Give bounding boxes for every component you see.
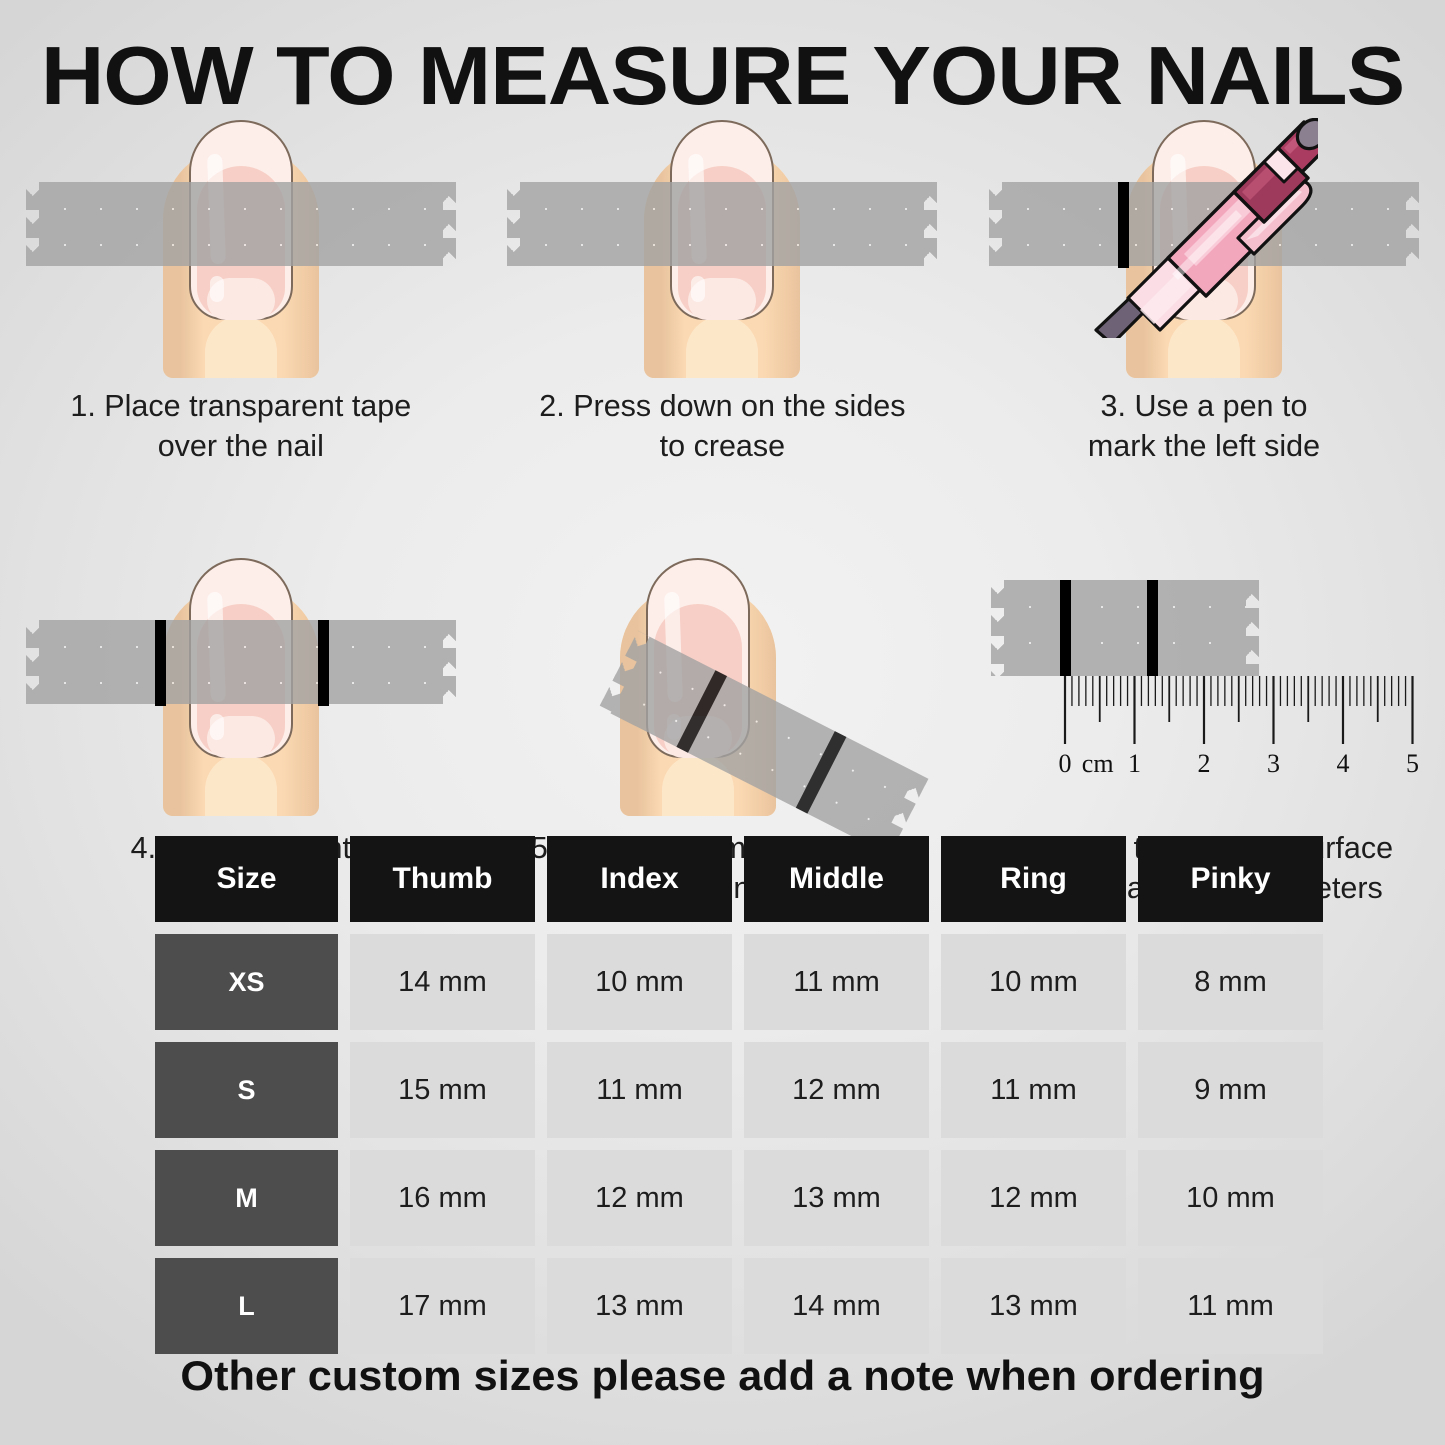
table-size-label: S xyxy=(155,1042,338,1138)
tape-zigzag-left-icon xyxy=(26,182,40,266)
step-2-caption-line-1: 2. Press down on the sides xyxy=(502,386,942,426)
tape-texture xyxy=(520,182,924,266)
step-2-caption-line-2: to crease xyxy=(502,426,942,466)
table-cell: 8 mm xyxy=(1138,934,1323,1030)
table-cell: 10 mm xyxy=(547,934,732,1030)
nail-gloss-small-icon xyxy=(691,276,705,302)
footer-note: Other custom sizes please add a note whe… xyxy=(0,1352,1445,1400)
step-2-caption: 2. Press down on the sides to crease xyxy=(502,386,942,466)
page-title: HOW TO MEASURE YOUR NAILS xyxy=(0,28,1445,124)
ruler-tick-label: 2 xyxy=(1197,749,1210,778)
table-cell: 12 mm xyxy=(547,1150,732,1246)
table-cell: 17 mm xyxy=(350,1258,535,1354)
table-cell: 12 mm xyxy=(744,1042,929,1138)
table-header-index: Index xyxy=(547,836,732,922)
table-cell: 13 mm xyxy=(547,1258,732,1354)
tape-zigzag-right-icon xyxy=(923,182,937,266)
finger-knuckle-highlight xyxy=(205,754,277,816)
ruler-tick-label: 1 xyxy=(1128,749,1141,778)
table-header-ring: Ring xyxy=(941,836,1126,922)
tape-zigzag-left-icon xyxy=(989,182,1003,266)
table-cell: 14 mm xyxy=(744,1258,929,1354)
table-size-label: M xyxy=(155,1150,338,1246)
step-4-illustration xyxy=(21,558,461,820)
tape-zigzag-right-icon xyxy=(442,182,456,266)
step-3-caption: 3. Use a pen to mark the left side xyxy=(984,386,1424,466)
tape-zigzag-left-icon xyxy=(26,620,40,704)
step-2: 2. Press down on the sides to crease xyxy=(482,120,964,466)
step-3-illustration xyxy=(984,120,1424,378)
step-6-illustration: 012345cm xyxy=(984,558,1424,820)
ruler: 012345cm xyxy=(984,558,1424,816)
table-size-label: L xyxy=(155,1258,338,1354)
tape-zigzag-right-icon xyxy=(1405,182,1419,266)
nail-gloss-small-icon xyxy=(210,714,224,740)
pen-icon xyxy=(1088,118,1318,338)
pen-mark-left xyxy=(155,620,166,706)
ruler-tick-label: 3 xyxy=(1267,749,1280,778)
table-row: XS 14 mm 10 mm 11 mm 10 mm 8 mm xyxy=(155,934,1322,1030)
step-1-illustration xyxy=(21,120,461,378)
tape-texture xyxy=(39,620,443,704)
step-2-illustration xyxy=(502,120,942,378)
table-cell: 11 mm xyxy=(547,1042,732,1138)
table-cell: 10 mm xyxy=(941,934,1126,1030)
table-header-pinky: Pinky xyxy=(1138,836,1323,922)
tape-zigzag-left-icon xyxy=(507,182,521,266)
ruler-tick-label: 0 xyxy=(1058,749,1071,778)
nail-gloss-small-icon xyxy=(210,276,224,302)
table-header-size: Size xyxy=(155,836,338,922)
table-header-middle: Middle xyxy=(744,836,929,922)
step-5-illustration xyxy=(502,558,942,820)
tape-strip xyxy=(39,620,443,704)
tape-strip xyxy=(520,182,924,266)
step-1: 1. Place transparent tape over the nail xyxy=(0,120,482,466)
table-cell: 12 mm xyxy=(941,1150,1126,1246)
ruler-tick-label: 4 xyxy=(1336,749,1349,778)
ruler-unit-label: cm xyxy=(1082,749,1114,778)
table-cell: 13 mm xyxy=(744,1150,929,1246)
table-cell: 13 mm xyxy=(941,1258,1126,1354)
step-1-caption-line-2: over the nail xyxy=(21,426,461,466)
table-row: L 17 mm 13 mm 14 mm 13 mm 11 mm xyxy=(155,1258,1322,1354)
tape-texture xyxy=(39,182,443,266)
table-cell: 9 mm xyxy=(1138,1042,1323,1138)
step-1-caption-line-1: 1. Place transparent tape xyxy=(21,386,461,426)
tape-strip xyxy=(39,182,443,266)
step-1-caption: 1. Place transparent tape over the nail xyxy=(21,386,461,466)
ruler-tick-label: 5 xyxy=(1406,749,1419,778)
table-row: M 16 mm 12 mm 13 mm 12 mm 10 mm xyxy=(155,1150,1322,1246)
table-header-thumb: Thumb xyxy=(350,836,535,922)
table-cell: 11 mm xyxy=(1138,1258,1323,1354)
table-row: S 15 mm 11 mm 12 mm 11 mm 9 mm xyxy=(155,1042,1322,1138)
size-table: Size Thumb Index Middle Ring Pinky XS 14… xyxy=(155,836,1322,1366)
finger-knuckle-highlight xyxy=(686,316,758,378)
table-cell: 14 mm xyxy=(350,934,535,1030)
ruler-labels: 012345cm xyxy=(1058,749,1419,778)
ruler-ticks xyxy=(1065,676,1413,744)
table-cell: 10 mm xyxy=(1138,1150,1323,1246)
table-cell: 16 mm xyxy=(350,1150,535,1246)
tape-zigzag-right-icon xyxy=(442,620,456,704)
pen-mark-right xyxy=(318,620,329,706)
table-size-label: XS xyxy=(155,934,338,1030)
step-3-caption-line-2: mark the left side xyxy=(984,426,1424,466)
steps-grid: 1. Place transparent tape over the nail xyxy=(0,120,1445,908)
steps-row-1: 1. Place transparent tape over the nail xyxy=(0,120,1445,466)
table-cell: 11 mm xyxy=(941,1042,1126,1138)
infographic-page: HOW TO MEASURE YOUR NAILS xyxy=(0,0,1445,1445)
ruler-svg: 012345cm xyxy=(984,558,1424,816)
finger-knuckle-highlight xyxy=(205,316,277,378)
table-header-row: Size Thumb Index Middle Ring Pinky xyxy=(155,836,1322,922)
table-cell: 15 mm xyxy=(350,1042,535,1138)
step-3-caption-line-1: 3. Use a pen to xyxy=(984,386,1424,426)
table-cell: 11 mm xyxy=(744,934,929,1030)
step-3: 3. Use a pen to mark the left side xyxy=(963,120,1445,466)
